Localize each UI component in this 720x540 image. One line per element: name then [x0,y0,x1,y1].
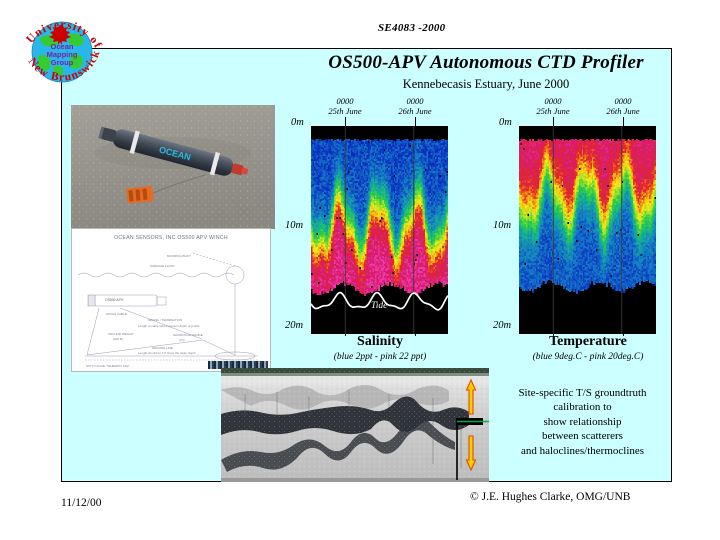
svg-text:WINCH CABLE: WINCH CABLE [106,312,127,316]
svg-text:Group: Group [51,58,74,67]
echogram-image [221,368,489,482]
salinity-caption: Salinity [295,334,465,350]
svg-text:(Zn): (Zn) [179,338,185,342]
temperature-heatmap [519,126,656,334]
salinity-subcaption: (blue 2ppt - pink 22 ppt) [280,352,480,362]
temperature-tick-2 [623,117,624,126]
svg-text:SACRIFICIAL ANODE: SACRIFICIAL ANODE [173,333,203,337]
annotation-note: Site-specific T/S groundtruth calibratio… [495,386,670,458]
svg-text:OS500 APV: OS500 APV [105,298,124,302]
salinity-depth-20m: 20m [285,320,303,331]
temperature-tick-1 [553,117,554,126]
salinity-time-label-1: 000025th June [315,96,375,116]
svg-text:NOT TO SCALE / SCHEMATIC ONLY: NOT TO SCALE / SCHEMATIC ONLY [86,364,130,368]
temperature-time-label-1: 000025th June [523,96,583,116]
svg-text:Length should be 1.5 times the: Length should be 1.5 times the water dep… [138,351,196,355]
winch-schematic: OCEAN SENSORS, INC OS500 APV WINCH [71,228,271,372]
salinity-heatmap: salinity columns generated below Tide [311,126,448,334]
svg-text:Length of cable sets maximum d: Length of cable sets maximum depth of pr… [138,324,200,328]
temperature-depth-10m: 10m [493,220,511,231]
note-line-1: Site-specific T/S groundtruth [495,386,670,400]
svg-text:MOORING BUOY: MOORING BUOY [167,254,191,258]
temperature-time-label-2: 000026th June [593,96,653,116]
profiler-photo: OCEAN [71,105,275,229]
svg-text:(200 lb): (200 lb) [113,337,123,341]
svg-text:GROUND LINE: GROUND LINE [152,346,173,350]
tide-label: Tide [371,301,387,311]
svg-text:ANCHOR WEIGHT: ANCHOR WEIGHT [108,332,134,336]
salinity-depth-0m: 0m [291,117,304,128]
page-title: OS500-APV Autonomous CTD Profiler [300,52,672,74]
svg-text:SURFACE FLOAT: SURFACE FLOAT [150,264,175,268]
salinity-depth-10m: 10m [285,220,303,231]
temperature-caption: Temperature [503,334,673,350]
slide-date: 11/12/00 [61,497,101,509]
document-code: SE4083 -2000 [378,22,445,34]
salinity-tick-1 [345,117,346,126]
note-line-4: between scatterers [495,429,670,443]
unb-omg-logo: Ocean Mapping Group University of New Br… [14,4,110,100]
salinity-time-label-2: 000026th June [385,96,445,116]
salinity-tick-2 [415,117,416,126]
note-line-3: show relationship [495,415,670,429]
temperature-depth-0m: 0m [499,117,512,128]
note-line-5: and haloclines/thermoclines [495,444,670,458]
temperature-depth-20m: 20m [493,320,511,331]
copyright-notice: © J.E. Hughes Clarke, OMG/UNB [470,491,630,503]
temperature-subcaption: (blue 9deg.C - pink 20deg.C) [488,352,688,362]
note-line-2: calibration to [495,400,670,414]
page-subtitle: Kennebecasis Estuary, June 2000 [300,77,672,92]
svg-text:SWIVEL / TERMINATION: SWIVEL / TERMINATION [148,318,182,322]
